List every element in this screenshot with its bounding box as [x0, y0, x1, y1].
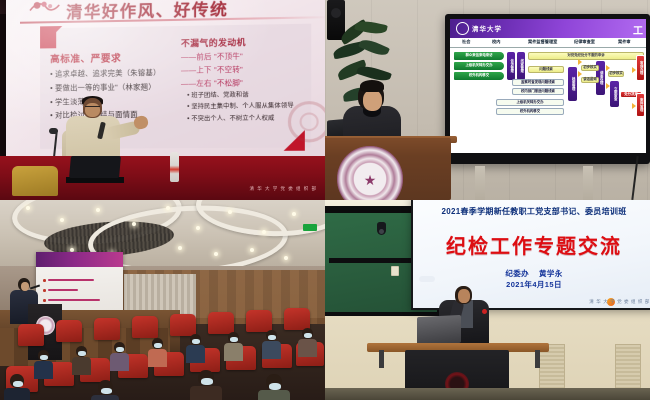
water-bottle	[170, 152, 179, 182]
slide-header-bar: 清华大学 工	[450, 19, 646, 38]
speaker-glasses	[85, 106, 100, 109]
display-stand-leg	[475, 166, 485, 200]
column-left-heading: 高标准、严要求	[50, 50, 170, 66]
flow-label: 初步核实	[608, 71, 624, 77]
flow-node-purple: 档案管理	[568, 67, 577, 101]
bullet-item: • 学生淡薄追究	[50, 97, 170, 107]
microphone-head-icon	[49, 128, 58, 134]
slide-footer-text: 清 华 大 学 党 委 组 织 部	[589, 299, 650, 305]
tsinghua-emblem-icon: ★	[337, 146, 403, 200]
photo-collage: 清华好作风、好传统 高标准、严要求 • 追求卓越、追求完美（朱镕基） • 要做出…	[0, 0, 650, 400]
wall-outlet	[391, 266, 399, 276]
flow-label: 谈话函询	[581, 77, 599, 83]
display-stand-leg	[583, 166, 593, 200]
sub-item: • 班子团结、党政和谐	[187, 91, 320, 99]
flow-node-purple: 线索管理	[517, 52, 525, 80]
display-screen: 清华大学 工 社会 校内 案件监督管理室 纪律审查室 案件审 群众来信来电来访 …	[450, 19, 646, 153]
presenter-badge-icon	[482, 309, 487, 314]
flow-node-pale: 校外机构移交	[496, 108, 564, 115]
wall-vent	[615, 344, 641, 390]
column-right-heading: 不漏气的发动机	[181, 35, 320, 49]
flow-col-header: 案件监督管理室	[528, 39, 557, 45]
dash-item: ——左右 "不松脚"	[181, 78, 320, 88]
slide-corner-chevron-icon	[40, 26, 62, 48]
ceiling-camera-icon	[377, 222, 386, 235]
slide-ornament-icon	[28, 0, 62, 16]
projected-slide-tradition: 清华好作风、好传统 高标准、严要求 • 追求卓越、追求完美（朱镕基） • 要做出…	[6, 0, 325, 160]
screen-brand: 清华大学	[472, 23, 502, 33]
photo-panel-top-left: 清华好作风、好传统 高标准、严要求 • 追求卓越、追求完美（朱镕基） • 要做出…	[0, 0, 325, 200]
flow-node-purple: 信访管理	[507, 52, 515, 80]
slide-column-left: 高标准、严要求 • 追求卓越、追求完美（朱镕基） • 要做出一等的事业"（林家翘…	[50, 50, 170, 126]
flow-node-pale: 上级机关转办交办	[496, 99, 564, 106]
flow-node-green: 校外机构移交	[454, 72, 504, 80]
flow-node-red: 案件审理	[636, 93, 645, 117]
flowchart-column-headers: 社会 校内 案件监督管理室 纪律审查室 案件审	[450, 38, 646, 48]
presenter-laptop	[417, 315, 461, 345]
flow-node-red: 审理办理	[636, 55, 645, 81]
flow-col-header: 社会	[462, 39, 470, 45]
exit-sign-icon	[303, 224, 317, 231]
photo-panel-top-right: 清华大学 工 社会 校内 案件监督管理室 纪律审查室 案件审 群众来信来电来访 …	[325, 0, 650, 200]
bullet-item: • 要做出一等的事业"（林家翘）	[50, 83, 170, 93]
presenter-name: 黄学永	[539, 269, 563, 278]
flow-node-pale: 校内部门报送问题线索	[512, 88, 564, 95]
presenter-org: 纪委办	[505, 269, 529, 278]
projected-title-slide: 2021春季学期新任教职工党支部书记、委员培训班 纪检工作专题交流 纪委办 黄学…	[411, 200, 650, 310]
slide-main-title: 纪检工作专题交流	[413, 230, 650, 259]
slide-date: 2021年4月15日	[506, 280, 562, 289]
projected-slide-header	[36, 252, 123, 267]
screen-header-title: 工	[633, 22, 643, 37]
flow-node-yellow: 问题线索	[528, 66, 564, 73]
slide-presenter: 纪委办 黄学永 2021年4月15日	[413, 268, 650, 291]
presenter-face	[458, 289, 470, 303]
presenter-face	[363, 90, 382, 111]
bullet-item: • 追求卓越、追求完美（朱镕基）	[50, 69, 170, 79]
photo-panel-bottom-right: 2021春季学期新任教职工党支部书记、委员培训班 纪检工作专题交流 纪委办 黄学…	[325, 200, 650, 400]
flow-label: 初步核实	[581, 65, 599, 71]
classroom-floor	[325, 388, 650, 400]
flow-col-header: 纪律审查室	[574, 39, 595, 45]
tsinghua-seal-icon	[456, 22, 469, 35]
speaker-face	[21, 282, 29, 291]
flow-col-header: 校内	[492, 39, 500, 45]
dash-item: ——前后 "不顶牛"	[181, 51, 320, 61]
photo-panel-bottom-left	[0, 200, 325, 400]
flow-node-purple: 立案审查	[610, 81, 619, 107]
wall-display: 清华大学 工 社会 校内 案件监督管理室 纪律审查室 案件审 群众来信来电来访 …	[445, 14, 650, 164]
flow-node-yellow: 对党党纪处分不服的申诉	[528, 52, 644, 60]
presenter-hair	[360, 80, 384, 92]
laptop	[69, 156, 121, 178]
slide-subtitle: 2021春季学期新任教职工党支部书记、委员培训班	[413, 206, 650, 217]
gold-chair	[12, 166, 58, 196]
flow-node-pale: 监察时查发现问题线索	[512, 79, 564, 86]
emblem-star-icon: ★	[364, 173, 377, 187]
flow-node-green: 上级机关转办交办	[454, 62, 504, 70]
flow-col-header: 案件审	[618, 39, 631, 45]
table-banner-text: 清 华 大 学 党 委 组 织 部	[249, 186, 317, 192]
wooden-podium: ★	[325, 138, 451, 200]
slide-watermark-icon	[288, 101, 325, 143]
audience-seating	[0, 340, 325, 400]
flow-node-green: 群众来信来电来访	[454, 52, 504, 60]
dash-item: ——上下 "不空转"	[181, 65, 320, 75]
